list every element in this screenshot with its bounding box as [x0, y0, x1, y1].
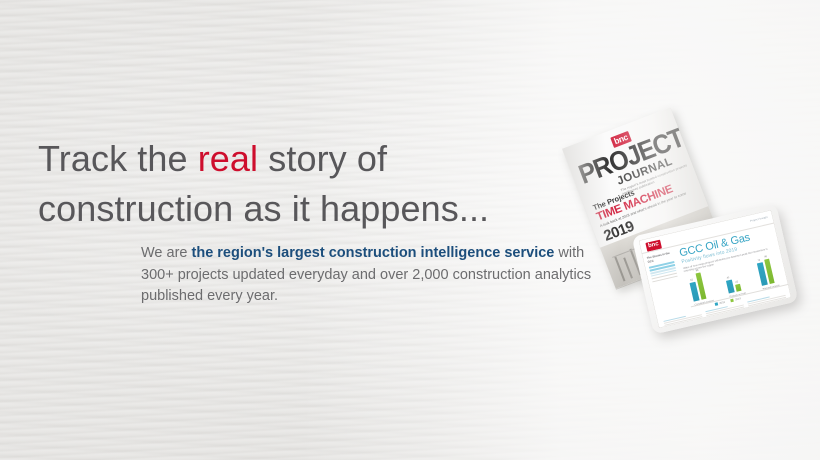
report-kicker: Project Insight — [750, 215, 768, 222]
bar-group: 41 22 Projects on hold — [726, 278, 742, 294]
subcopy-lead: We are — [141, 245, 192, 261]
bar-value: 22 — [735, 280, 738, 284]
bar-value: 62 — [690, 278, 693, 282]
headline-part1: Track the — [38, 138, 198, 179]
photo-post — [623, 258, 632, 279]
bar-value: 80 — [764, 255, 767, 259]
page-title: Track the real story of construction as … — [38, 134, 518, 234]
legend-swatch — [730, 299, 734, 303]
bar-value: 88 — [696, 269, 699, 273]
legend-label: 2018 — [719, 301, 725, 305]
bar-2018: 41 — [726, 280, 734, 294]
bar-group: 62 88 Completed projects — [688, 272, 707, 301]
bar-value: 74 — [757, 259, 760, 263]
legend-item-2018: 2018 — [715, 301, 726, 306]
legend-label: 2019 — [735, 297, 741, 301]
bar-value: 41 — [726, 276, 729, 280]
bar-group: 74 80 Planned projects — [756, 259, 774, 286]
legend-swatch — [715, 302, 719, 306]
headline-accent: real — [198, 138, 258, 179]
subcopy-strong: the region's largest construction intell… — [192, 245, 555, 261]
hero-banner: Track the real story of construction as … — [0, 0, 820, 460]
legend-item-2019: 2019 — [730, 297, 741, 302]
hero-copy: Track the real story of construction as … — [0, 0, 620, 460]
report-sidebar: The Stories in the GCC — [647, 251, 679, 284]
bar-2019: 22 — [735, 284, 742, 292]
hero-subtitle: We are the region's largest construction… — [141, 243, 611, 308]
